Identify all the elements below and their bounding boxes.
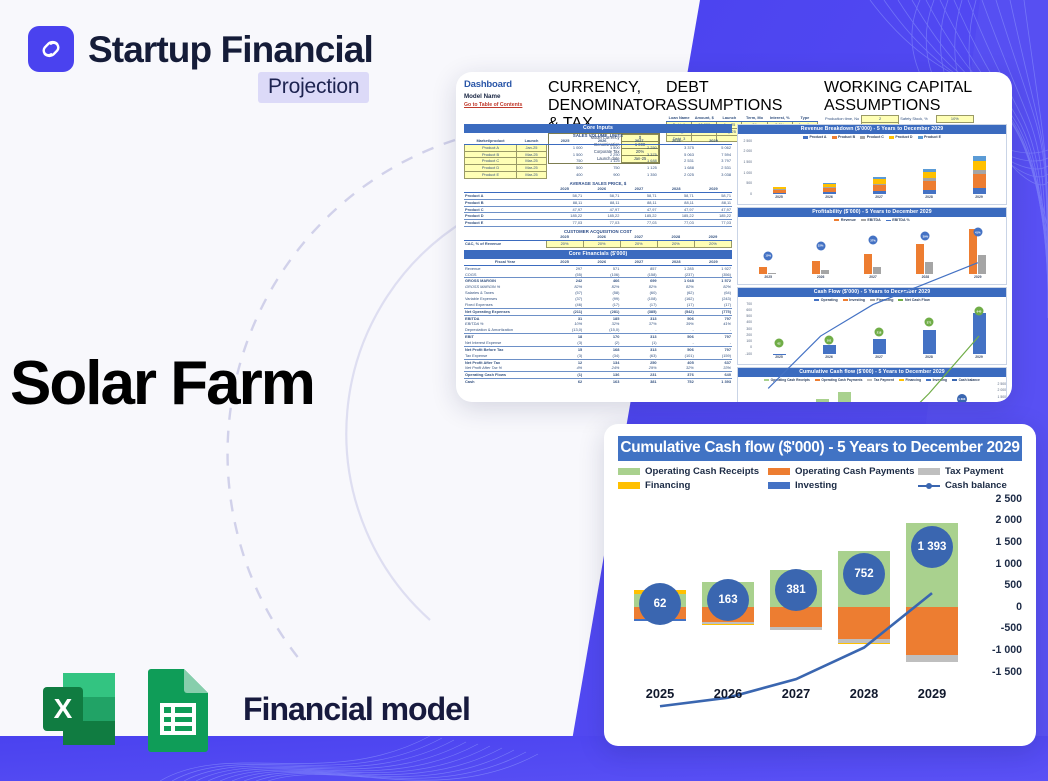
x-tick-label: 2029 [975, 355, 983, 364]
fin-cell: 231 [620, 372, 657, 379]
y-tick-label: 2 000 [998, 388, 1007, 392]
fin-cell: 62 [546, 379, 583, 385]
x-tick-label: 2025 [646, 686, 674, 701]
bar-column [823, 183, 836, 194]
sv-cell: 500 [547, 165, 584, 172]
chart-plot-area: 621633817521 393 2 5002 0001 5001 000500… [618, 499, 1022, 714]
wc-label: Production time, No [824, 116, 861, 123]
fin-cell: (211) [546, 308, 583, 315]
ap-cell: 185,22 [658, 213, 695, 220]
ap-cell: 58,71 [620, 192, 657, 199]
core-financials-table: Fiscal Year 2025 2026 2027 2028 2029 Rev… [464, 259, 732, 385]
sv-cell: 3 038 [695, 172, 732, 179]
ap-cell: 58,71 [658, 192, 695, 199]
table-row: Product E Mar-25 400 900 1 350 2 025 3 0… [465, 172, 733, 179]
ap-cell: Product D [464, 213, 546, 220]
table-row: Product A Jan-25 1 000 1 500 2 250 3 375… [465, 144, 733, 151]
net-cashflow-node: 371 [925, 318, 934, 327]
right-panel-charts: Revenue Breakdown ($'000) - 5 Years to D… [737, 124, 1007, 402]
x-tick-label: 2027 [875, 195, 883, 204]
x-tick-label: 2027 [782, 686, 810, 701]
bar-segment [923, 190, 936, 194]
sv-cell: 7 594 [695, 151, 732, 158]
cac-cell: CAC, % of Revenue [464, 241, 546, 248]
avg-price-table: 2025 2026 2027 2028 2029 Product A 58,71… [464, 186, 732, 227]
y-tick-label: 700 [746, 302, 752, 306]
ap-cell: 58,71 [695, 192, 732, 199]
core-financials-bar: Core Financials ($'000) [464, 250, 732, 259]
net-cashflow-node: 101 [825, 336, 834, 345]
chart-y-axis: 2 5002 0001 5001 0005000-500-1 000-1 500 [970, 499, 1022, 672]
mini-chart-legend: Product A Product B Product C Product D … [738, 134, 1006, 141]
dashboard-toc-link[interactable]: Go to Table of Contents [464, 102, 542, 108]
ap-cell: 47,97 [620, 206, 657, 213]
sv-cell: 1 688 [621, 158, 658, 165]
sv-cell: 1 125 [621, 165, 658, 172]
bar-segment [973, 174, 986, 188]
table-row: Production time, No 2 Safety Stock, % 10… [824, 116, 974, 123]
chart-x-axis: 20252026202720282029 [626, 686, 966, 708]
ap-cell: 47,97 [695, 206, 732, 213]
cash-balance-node: 163 [707, 579, 749, 621]
ebitda-pct-node: 10% [764, 251, 773, 260]
mini-chart-plot: 7006005004003002001000-100 6210121837164… [738, 304, 1006, 364]
dashboard-header-row: Dashboard Model Name Go to Table of Cont… [464, 79, 1004, 121]
mini-chart-plot: 621633817521 393 2 5002 0001 5001 000500… [738, 384, 1006, 403]
legend-swatch [918, 468, 940, 475]
cac-cell[interactable]: 20% [546, 241, 583, 248]
ap-cell: 58,71 [546, 192, 583, 199]
svg-text:X: X [54, 693, 73, 724]
table-row: Product D 185,22 185,22 185,22 185,22 18… [464, 213, 732, 220]
left-panel: Core Inputs SALES VOLUME, UNITS Market/p… [464, 124, 732, 402]
bar-segment [973, 161, 986, 171]
table-row: Net Operating Expenses(211)(281)(385)(54… [464, 308, 732, 315]
cac-cell[interactable]: 20% [583, 241, 620, 248]
sv-cell[interactable]: Mar-25 [517, 172, 547, 179]
fin-row-label: Cash [464, 379, 546, 385]
sv-cell[interactable]: Product B [465, 151, 517, 158]
fin-cell: (281) [583, 308, 620, 315]
cash-balance-node: 1 393 [957, 394, 967, 402]
legend-label: Product D [895, 135, 912, 139]
x-tick-label: 2029 [975, 195, 983, 204]
bar-segment [773, 193, 786, 194]
fin-cell: 136 [583, 372, 620, 379]
ebitda-pct-node: 37% [869, 236, 878, 245]
debt-col: Interest, % [767, 115, 792, 121]
sv-cell: 1 125 [584, 158, 621, 165]
cac-cell[interactable]: 20% [657, 241, 694, 248]
swirl-e-icon [36, 34, 66, 64]
y-tick-label: -1 000 [992, 644, 1022, 656]
net-cashflow-node: 640 [975, 307, 984, 316]
ap-cell: 77,03 [546, 220, 583, 227]
legend-item-cash-balance: Cash balance [918, 480, 1022, 491]
cumulative-nodes: 621633817521 393 [744, 386, 986, 403]
sv-cell[interactable]: Mar-25 [517, 151, 547, 158]
y-tick-label: 2 500 [998, 382, 1007, 386]
ap-cell: 185,22 [583, 213, 620, 220]
y-tick-label: 1 500 [995, 536, 1022, 548]
cac-table: 2025 2026 2027 2028 2029 CAC, % of Reven… [464, 234, 732, 248]
legend-label: Investing [795, 480, 837, 491]
brand-badge-projection: Projection [258, 72, 369, 103]
legend-label: Tax Payment [945, 466, 1003, 477]
legend-swatch [618, 468, 640, 475]
y-tick-label: 0 [1016, 601, 1022, 613]
ap-cell: 88,11 [546, 199, 583, 206]
profitability-nodes: 10%32%37%39%41% [742, 226, 1004, 274]
fin-cell: (1) [546, 372, 583, 379]
bar-column [973, 156, 986, 194]
x-tick-label: 2027 [869, 275, 877, 284]
legend-label: Product B [838, 135, 855, 139]
ap-cell: Product E [464, 220, 546, 227]
y-tick-label: 1 500 [744, 160, 753, 164]
y-tick-label: 500 [746, 181, 752, 185]
x-tick-label: 2025 [775, 355, 783, 364]
wc-box-header: WORKING CAPITAL ASSUMPTIONS [824, 79, 974, 115]
x-tick-label: 2025 [764, 275, 772, 284]
x-tick-label: 2028 [925, 195, 933, 204]
bar-column [873, 177, 886, 194]
table-row: CAC, % of Revenue 20% 20% 20% 20% 20% [464, 241, 732, 248]
y-tick-label: 600 [746, 308, 752, 312]
table-row: Cash621633817521 393 [464, 379, 732, 385]
bar-segment [923, 181, 936, 190]
dashboard-body: Core Inputs SALES VOLUME, UNITS Market/p… [464, 124, 1004, 402]
wc-value2[interactable]: 10% [936, 116, 973, 123]
legend-label: Product C [867, 135, 884, 139]
table-row: Product B 88,11 88,11 88,11 88,11 88,11 [464, 199, 732, 206]
x-tick-label: 2028 [850, 686, 878, 701]
mini-chart-title: Profitability ($'000) - 5 Years to Decem… [738, 208, 1006, 217]
ap-cell: 88,11 [620, 199, 657, 206]
debt-col: Amount, $ [692, 115, 717, 121]
sv-cell: 3 375 [658, 144, 695, 151]
sv-cell[interactable]: Jan-25 [517, 144, 547, 151]
sv-cell[interactable]: Mar-25 [517, 165, 547, 172]
y-tick-label: 500 [746, 314, 752, 318]
legend-line-marker [918, 482, 940, 489]
legend-label: EBITDA % [892, 218, 909, 222]
sv-cell: 2 531 [695, 165, 732, 172]
table-row: Operating Cash Flows(1)136231376640 [464, 372, 732, 379]
x-tick-label: 2025 [775, 195, 783, 204]
cac-cell[interactable]: 20% [694, 241, 731, 248]
dashboard-title: Dashboard [464, 79, 542, 90]
y-tick-label: 2 000 [744, 149, 753, 153]
chart-title: Cumulative Cash flow ($'000) - 5 Years t… [618, 436, 1022, 461]
legend-label: Revenue [841, 218, 856, 222]
ap-cell: 185,22 [546, 213, 583, 220]
ap-cell: 47,97 [583, 206, 620, 213]
sv-cell[interactable]: Product A [465, 144, 517, 151]
sv-cell: 5 063 [658, 151, 695, 158]
table-row: Product C 47,97 47,97 47,97 47,97 47,97 [464, 206, 732, 213]
y-tick-label: 300 [746, 327, 752, 331]
dashboard-titles: Dashboard Model Name Go to Table of Cont… [464, 79, 542, 108]
sv-cell: 1 350 [621, 172, 658, 179]
y-tick-label: -100 [745, 352, 752, 356]
y-tick-label: 2 000 [995, 514, 1022, 526]
x-tick-label: 2026 [714, 686, 742, 701]
x-tick-label: 2026 [825, 355, 833, 364]
wc-label2: Safety Stock, % [899, 116, 936, 123]
legend-swatch [618, 482, 640, 489]
chart-data-labels: 621633817521 393 [626, 499, 966, 672]
ap-cell: 77,03 [583, 220, 620, 227]
bar-column [923, 169, 936, 194]
sv-cell: 3 375 [621, 151, 658, 158]
fin-cell: 163 [583, 379, 620, 385]
x-tick-label: 2029 [974, 275, 982, 284]
sv-cell[interactable]: Mar-25 [517, 158, 547, 165]
cash-balance-node: 752 [843, 553, 885, 595]
sv-cell: 750 [547, 158, 584, 165]
brand-title: Startup Financial [88, 31, 373, 68]
ap-cell: 185,22 [620, 213, 657, 220]
ap-cell: 77,03 [620, 220, 657, 227]
legend-item-operating-cash-receipts: Operating Cash Receipts [618, 466, 768, 477]
ebitda-pct-node: 39% [921, 232, 930, 241]
legend-label: Cash balance [945, 480, 1007, 491]
legend-label: EBITDA [867, 218, 880, 222]
sv-cell: 1 000 [547, 144, 584, 151]
net-cashflow-node: 218 [875, 328, 884, 337]
y-tick-label: 400 [746, 320, 752, 324]
y-tick-label: 500 [1004, 579, 1022, 591]
table-row: Product D Mar-25 500 750 1 125 1 688 2 5… [465, 165, 733, 172]
ap-cell: 185,22 [695, 213, 732, 220]
mini-chart-plot: 2 5002 0001 5001 0005000 202520262027202… [738, 141, 1006, 204]
sv-cell[interactable]: Product C [465, 158, 517, 165]
fin-cell: 1 393 [695, 379, 732, 385]
sv-cell: 2 250 [584, 151, 621, 158]
ap-cell: 77,03 [658, 220, 695, 227]
dashboard-model-name: Model Name [464, 93, 542, 100]
brand-logo-icon [28, 26, 74, 72]
wc-value[interactable]: 2 [861, 116, 898, 123]
fin-row-label: Operating Cash Flows [464, 372, 546, 379]
y-tick-label: 1 000 [998, 401, 1007, 402]
fin-cell: 640 [695, 372, 732, 379]
legend-label: Financing [645, 480, 690, 491]
ap-cell: 88,11 [583, 199, 620, 206]
debt-box-header: DEBT ASSUMPTIONS [666, 79, 818, 115]
page-title: Solar Farm [10, 353, 314, 415]
sv-cell: 2 025 [658, 172, 695, 179]
solid-arc [346, 220, 466, 620]
table-row: Product A 58,71 58,71 58,71 58,71 58,71 [464, 192, 732, 199]
footer-formats: X Financial model [35, 663, 470, 755]
fin-cell: (542) [658, 308, 695, 315]
y-tick-label: 200 [746, 333, 752, 337]
cumulative-cashflow-chart-card: Cumulative Cash flow ($'000) - 5 Years t… [604, 424, 1036, 746]
ap-cell: 58,71 [583, 192, 620, 199]
sv-cell[interactable]: Product D [465, 165, 517, 172]
dashboard-screenshot-card: Dashboard Model Name Go to Table of Cont… [456, 72, 1012, 402]
y-tick-label: 1 000 [744, 171, 753, 175]
ap-cell: Product B [464, 199, 546, 206]
table-row: Product B Mar-25 1 500 2 250 3 375 5 063… [465, 151, 733, 158]
x-tick-label: 2026 [825, 195, 833, 204]
sv-cell: 900 [584, 172, 621, 179]
cash-balance-node: 381 [775, 569, 817, 611]
poster-canvas: Startup Financial Projection Solar Farm … [0, 0, 1048, 781]
x-tick-label: 2027 [875, 355, 883, 364]
y-tick-label: -1 500 [992, 666, 1022, 678]
legend-label: Product E [924, 135, 941, 139]
fin-cell: 381 [620, 379, 657, 385]
x-tick-label: 2029 [918, 686, 946, 701]
legend-swatch [768, 482, 790, 489]
fin-row-label: Net Operating Expenses [464, 308, 546, 315]
footer-label: Financial model [243, 691, 470, 728]
sv-cell: 750 [584, 165, 621, 172]
x-tick-label: 2028 [922, 275, 930, 284]
fin-cell: 752 [658, 379, 695, 385]
ap-cell: 77,03 [695, 220, 732, 227]
core-inputs-bar: Core Inputs [464, 124, 732, 133]
y-tick-label: 2 500 [744, 139, 753, 143]
legend-item-financing: Financing [618, 480, 768, 491]
table-row: Product C Mar-25 750 1 125 1 688 2 531 3… [465, 158, 733, 165]
ap-cell: 88,11 [658, 199, 695, 206]
x-tick-label: 2026 [817, 275, 825, 284]
google-sheets-icon [140, 663, 216, 755]
ap-cell: Product C [464, 206, 546, 213]
y-tick-label: 2 500 [995, 493, 1022, 505]
bar-segment [873, 191, 886, 194]
mini-chart-revenue-breakdown: Revenue Breakdown ($'000) - 5 Years to D… [737, 124, 1007, 205]
y-tick-label: 100 [746, 339, 752, 343]
y-tick-label: 0 [750, 192, 752, 196]
legend-label: Product A [809, 135, 826, 139]
bar-segment [973, 188, 986, 194]
y-tick-label: 1 500 [998, 395, 1007, 399]
bar-segment [823, 192, 836, 194]
cac-cell[interactable]: 20% [620, 241, 657, 248]
mini-chart-title: Revenue Breakdown ($'000) - 5 Years to D… [738, 125, 1006, 134]
sv-cell: 1 500 [547, 151, 584, 158]
legend-swatch [768, 468, 790, 475]
debt-col: Loan Name [667, 115, 692, 121]
ap-cell: 88,11 [695, 199, 732, 206]
sv-cell: 2 531 [658, 158, 695, 165]
y-tick-label: 0 [750, 345, 752, 349]
cashflow-nodes: 62101218371640 [754, 306, 1004, 354]
sv-cell: 5 062 [695, 144, 732, 151]
sv-cell: 1 500 [584, 144, 621, 151]
cash-balance-node: 1 393 [911, 526, 953, 568]
bar-column [773, 187, 786, 194]
legend-item-investing: Investing [768, 480, 918, 491]
ebitda-pct-node: 32% [816, 241, 825, 250]
legend-label: Operating Cash Payments [795, 466, 914, 477]
sv-cell: 1 688 [658, 165, 695, 172]
y-tick-label: -500 [1001, 622, 1022, 634]
fin-cell: (775) [695, 308, 732, 315]
sv-cell: 3 797 [695, 158, 732, 165]
brand-header: Startup Financial [28, 26, 373, 72]
fin-cell: 376 [658, 372, 695, 379]
y-tick-label: 1 000 [995, 558, 1022, 570]
sv-cell: 400 [547, 172, 584, 179]
net-cashflow-node: 62 [775, 339, 784, 348]
chart-legend: Operating Cash Receipts Operating Cash P… [618, 466, 1022, 491]
legend-item-operating-cash-payments: Operating Cash Payments [768, 466, 918, 477]
legend-item-tax-payment: Tax Payment [918, 466, 1022, 477]
fin-cell: (385) [620, 308, 657, 315]
legend-label: Operating Cash Receipts [645, 466, 759, 477]
sv-cell[interactable]: Product E [465, 172, 517, 179]
mini-chart-plot: 10%32%37%39%41% 20252026202720282029 [738, 224, 1006, 284]
mini-chart-profitability: Profitability ($'000) - 5 Years to Decem… [737, 207, 1007, 285]
ap-cell: 47,97 [546, 206, 583, 213]
ap-cell: Product A [464, 192, 546, 199]
excel-icon: X [35, 665, 123, 753]
cash-balance-node: 62 [639, 583, 681, 625]
sales-volume-table: Market/product Launch 2025 2026 2027 202… [464, 138, 732, 179]
table-row: Product E 77,03 77,03 77,03 77,03 77,03 [464, 220, 732, 227]
sv-cell: 2 250 [621, 144, 658, 151]
mini-chart-legend: Revenue EBITDA EBITDA % [738, 217, 1006, 224]
ap-cell: 47,97 [658, 206, 695, 213]
ebitda-pct-node: 41% [973, 228, 982, 237]
x-tick-label: 2028 [925, 355, 933, 364]
